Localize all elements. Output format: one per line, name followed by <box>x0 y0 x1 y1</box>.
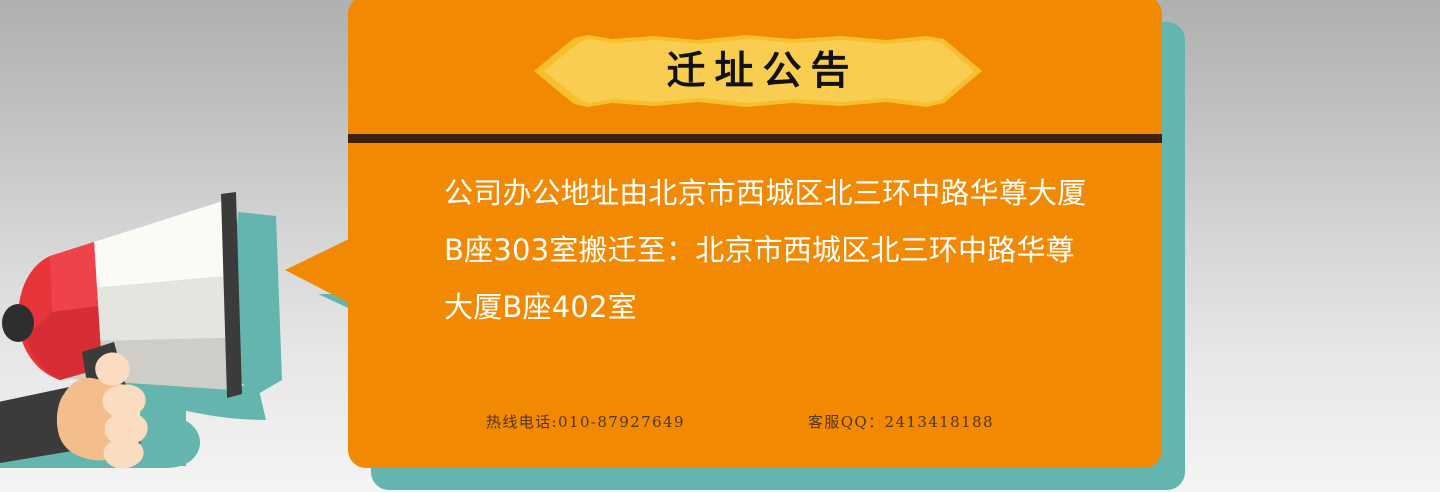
title-divider <box>348 134 1162 143</box>
contact-row: 热线电话:010-87927649 客服QQ：2413418188 <box>444 409 1094 433</box>
announcement-body: 公司办公地址由北京市西城区北三环中路华尊大厦B座303室搬迁至：北京市西城区北三… <box>444 165 1092 336</box>
hotline-text: 热线电话:010-87927649 <box>486 411 685 432</box>
page-title: 迁址公告 <box>534 34 982 108</box>
announcement-banner-stage: 迁址公告 公司办公地址由北京市西城区北三环中路华尊大厦B座303室搬迁至：北京市… <box>0 0 1440 492</box>
megaphone-icon <box>0 180 320 492</box>
megaphone-knob-icon <box>2 304 34 342</box>
qq-text: 客服QQ：2413418188 <box>808 411 994 432</box>
